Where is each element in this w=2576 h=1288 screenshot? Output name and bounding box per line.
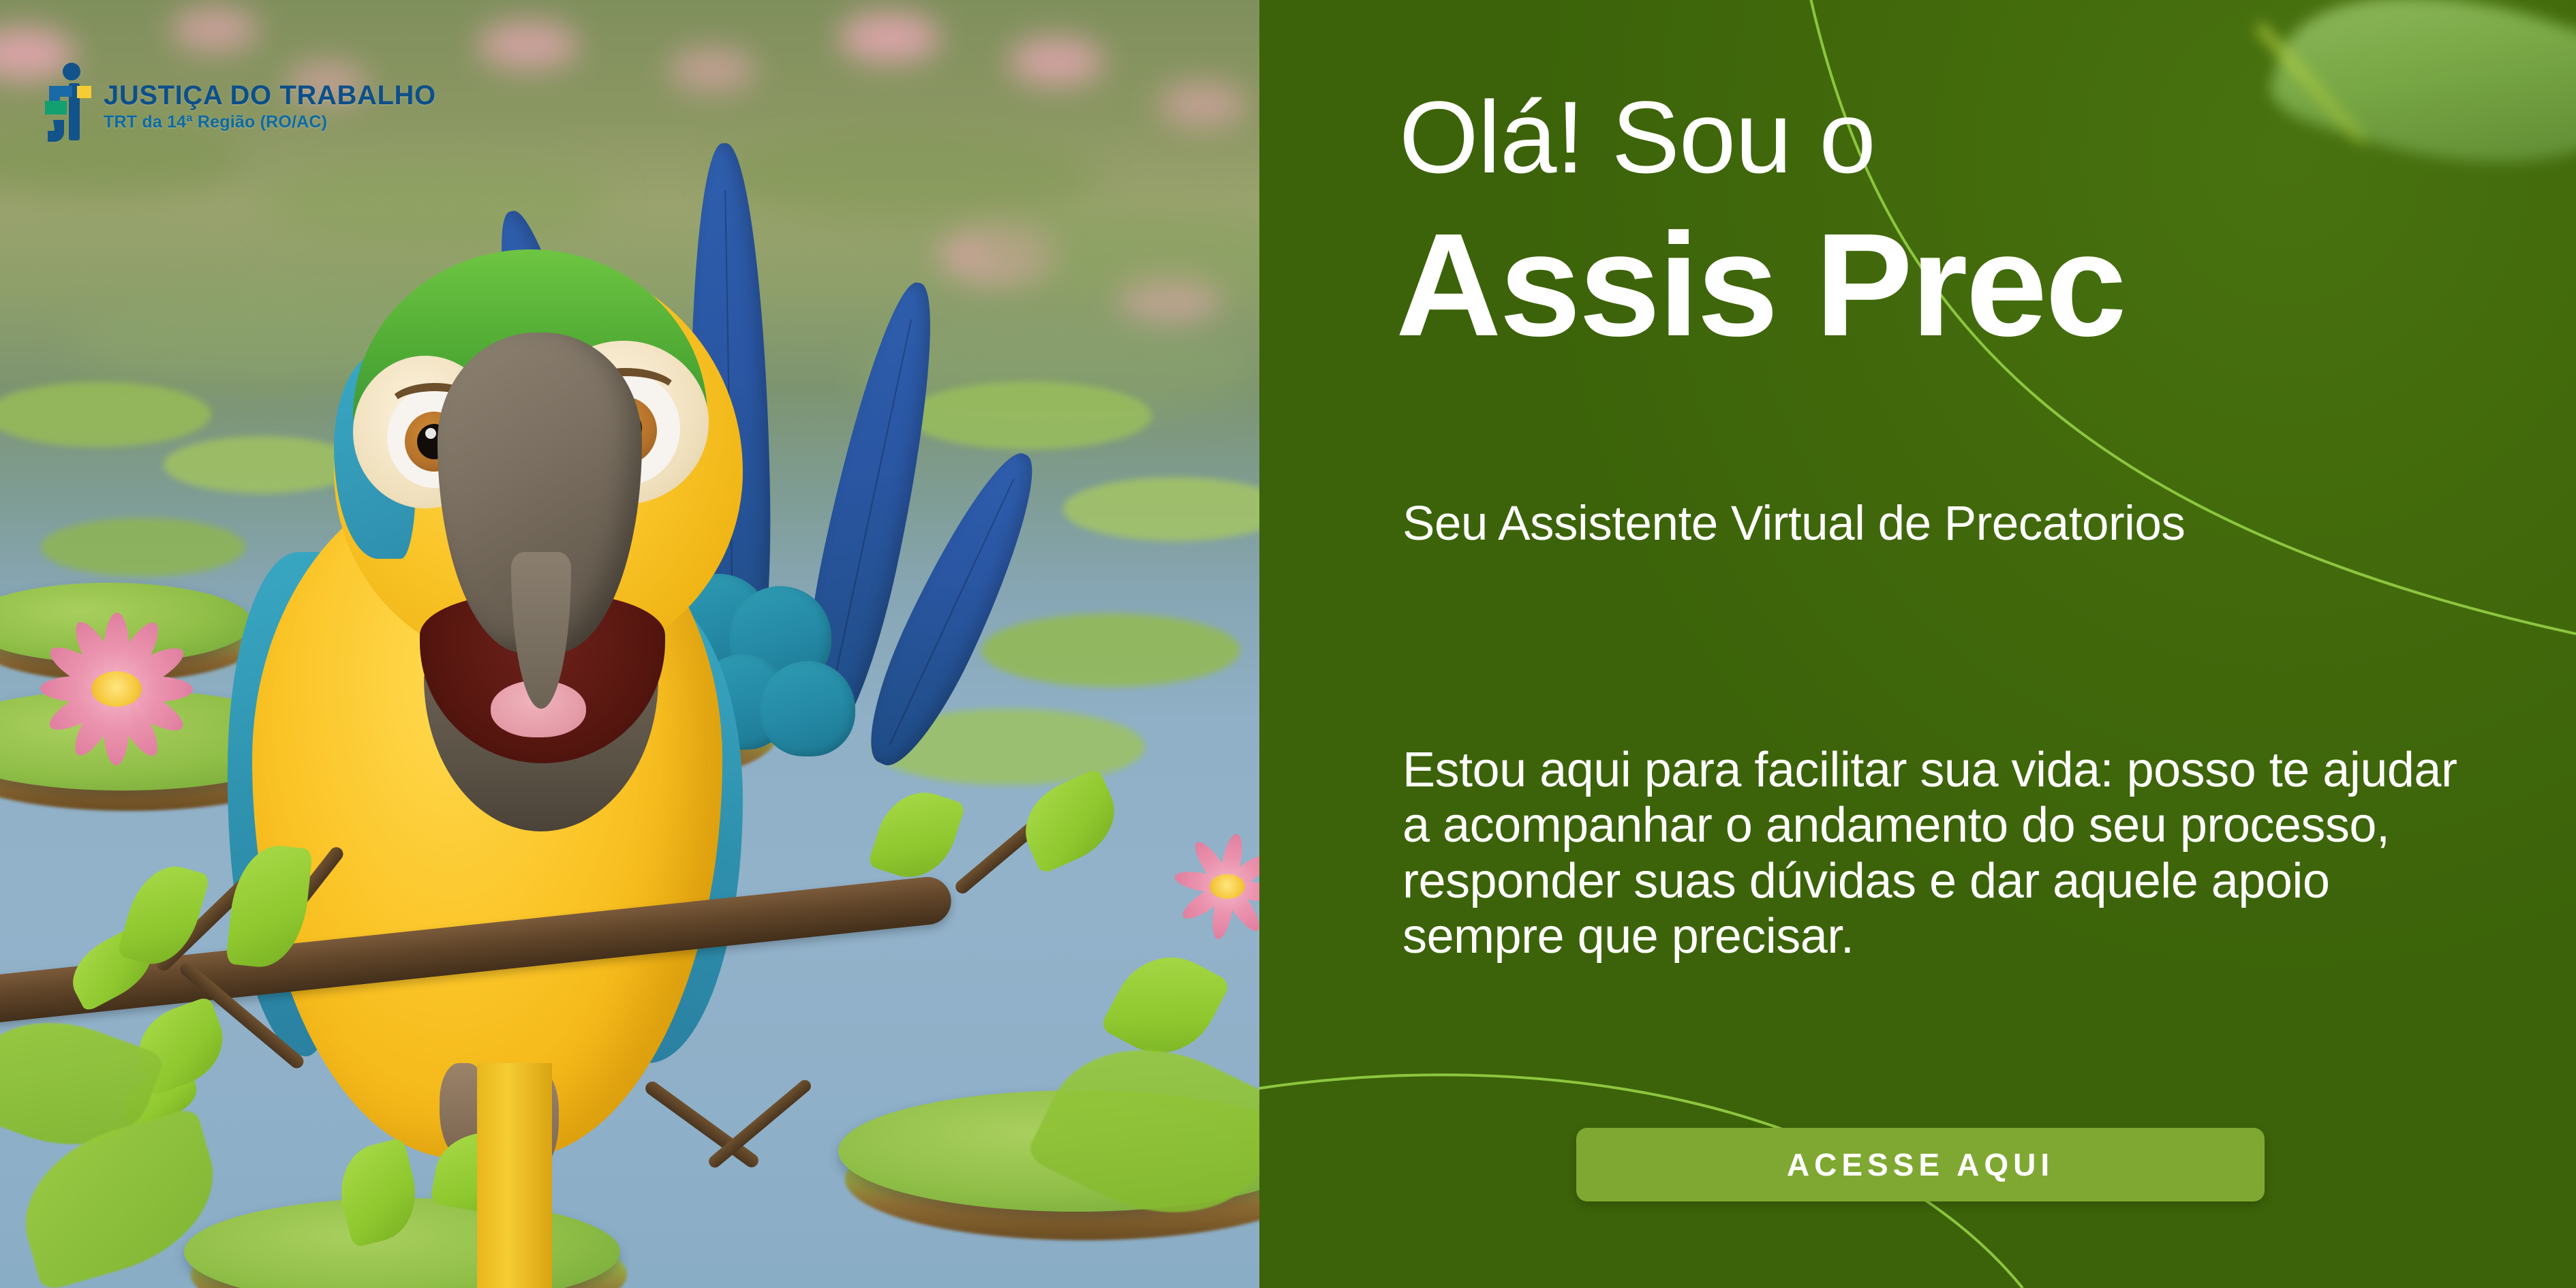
- logo-title: JUSTIÇA DO TRABALHO: [104, 82, 436, 109]
- trt14-logo[interactable]: JUSTIÇA DO TRABALHO TRT da 14ª Região (R…: [40, 61, 436, 151]
- panel-content: Olá! Sou o Assis Prec Seu Assistente Vir…: [1259, 0, 2576, 1288]
- page-subtitle: Seu Assistente Virtual de Precatorios: [1402, 497, 2185, 551]
- assis-prec-banner: JUSTIÇA DO TRABALHO TRT da 14ª Região (R…: [0, 0, 2576, 1288]
- acesse-aqui-button[interactable]: ACESSE AQUI: [1576, 1128, 2265, 1201]
- logo-subtitle: TRT da 14ª Região (RO/AC): [104, 114, 436, 131]
- water-lily-flower-secondary: [1227, 886, 1227, 887]
- description-paragraph: Estou aqui para facilitar sua vida: poss…: [1402, 743, 2466, 964]
- page-title: Assis Prec: [1396, 211, 2125, 358]
- wooden-post: [477, 1063, 552, 1288]
- macaw-character: [170, 116, 975, 1288]
- justica-do-trabalho-figure-mark: [40, 61, 91, 151]
- logo-text-block: JUSTIÇA DO TRABALHO TRT da 14ª Região (R…: [104, 82, 436, 131]
- greeting-kicker: Olá! Sou o: [1399, 86, 1875, 188]
- macaw-illustration: JUSTIÇA DO TRABALHO TRT da 14ª Região (R…: [0, 0, 1259, 1288]
- water-lily-flower: [116, 688, 117, 689]
- message-panel: Olá! Sou o Assis Prec Seu Assistente Vir…: [1259, 0, 2576, 1288]
